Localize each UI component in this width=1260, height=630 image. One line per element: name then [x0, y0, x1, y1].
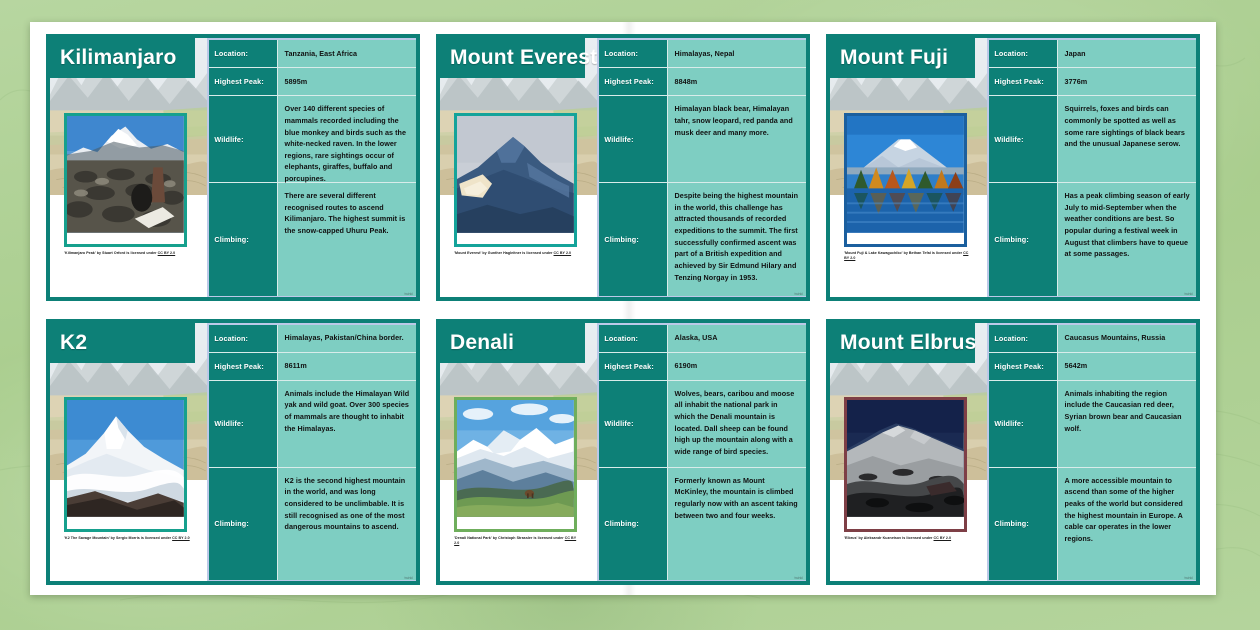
photo-credit-caption: 'Denali National Park' by Christoph Stra…: [454, 536, 580, 546]
table-row-location: Location: Himalayas, Pakistan/China bord…: [209, 325, 416, 353]
value-climbing: There are several different recognised r…: [278, 183, 416, 295]
twinkl-watermark: twinkl: [405, 292, 413, 296]
label-wildlife: Wildlife:: [599, 381, 667, 467]
label-location: Location:: [209, 325, 277, 352]
table-row-location: Location: Alaska, USA: [599, 325, 806, 353]
fact-table: Location: Caucasus Mountains, Russia Hig…: [987, 323, 1196, 582]
label-location: Location:: [209, 40, 277, 67]
card-title-bar: Mount Fuji: [830, 38, 975, 78]
value-highest-peak: 6190m: [668, 353, 806, 380]
fact-card-mount-fuji[interactable]: G Mount Fuji: [826, 34, 1200, 301]
table-row-climbing: Climbing: Despite being the highest moun…: [599, 183, 806, 295]
mountain-photo: [67, 400, 184, 517]
label-climbing: Climbing:: [209, 468, 277, 580]
value-location: Himalayas, Nepal: [668, 40, 806, 67]
card-title-bar: Mount Elbrus: [830, 323, 975, 363]
value-wildlife: Himalayan black bear, Himalayan tahr, sn…: [668, 96, 806, 182]
table-row-wildlife: Wildlife: Wolves, bears, caribou and moo…: [599, 381, 806, 468]
label-wildlife: Wildlife:: [209, 96, 277, 182]
twinkl-watermark: twinkl: [1185, 576, 1193, 580]
mountain-photo-frame[interactable]: [844, 113, 967, 247]
value-climbing: Despite being the highest mountain in th…: [668, 183, 806, 295]
table-row-wildlife: Wildlife: Animals inhabiting the region …: [989, 381, 1196, 468]
value-wildlife: Over 140 different species of mammals re…: [278, 96, 416, 182]
twinkl-watermark: twinkl: [405, 576, 413, 580]
twinkl-watermark: twinkl: [795, 292, 803, 296]
mountain-photo-frame[interactable]: [64, 113, 187, 247]
value-highest-peak: 5895m: [278, 68, 416, 95]
fact-card-k2[interactable]: G K2 'K2 The Savage Mountain' by Sergio …: [46, 319, 420, 586]
label-location: Location:: [599, 325, 667, 352]
table-row-location: Location: Tanzania, East Africa: [209, 40, 416, 68]
label-climbing: Climbing:: [599, 183, 667, 295]
table-row-location: Location: Japan: [989, 40, 1196, 68]
table-row-climbing: Climbing: Has a peak climbing season of …: [989, 183, 1196, 295]
label-location: Location:: [989, 40, 1057, 67]
fact-table: Location: Himalayas, Nepal Highest Peak:…: [597, 38, 806, 297]
table-row-highest-peak: Highest Peak: 6190m: [599, 353, 806, 381]
value-wildlife: Squirrels, foxes and birds can commonly …: [1058, 96, 1196, 182]
photo-credit-caption: 'Mount Fuji & Lake Kawaguchiko' by Betha…: [844, 251, 970, 261]
card-illustration-panel: G Kilimanjaro 'Kilimanjaro Peak' by Stua…: [50, 38, 207, 297]
label-highest-peak: Highest Peak:: [989, 68, 1057, 95]
fact-card-mount-everest[interactable]: G Mount Everest 'Mount Everest' by Gunth…: [436, 34, 810, 301]
table-row-wildlife: Wildlife: Animals include the Himalayan …: [209, 381, 416, 468]
table-row-highest-peak: Highest Peak: 8611m: [209, 353, 416, 381]
screenshot-stage: G Kilimanjaro 'Kilimanjaro Peak' by Stua…: [0, 0, 1260, 630]
value-highest-peak: 5642m: [1058, 353, 1196, 380]
value-climbing: K2 is the second highest mountain in the…: [278, 468, 416, 580]
label-climbing: Climbing:: [989, 468, 1057, 580]
photo-credit-caption: 'Kilimanjaro Peak' by Stuart Orford is l…: [64, 251, 190, 256]
table-row-climbing: Climbing: There are several different re…: [209, 183, 416, 295]
table-row-wildlife: Wildlife: Squirrels, foxes and birds can…: [989, 96, 1196, 183]
fact-card-grid: G Kilimanjaro 'Kilimanjaro Peak' by Stua…: [46, 34, 1200, 585]
fact-card-mount-elbrus[interactable]: G Mount Elbrus 'Elbrus' by Aleksandr Kuz…: [826, 319, 1200, 586]
label-wildlife: Wildlife:: [989, 381, 1057, 467]
card-illustration-panel: G Mount Everest 'Mount Everest' by Gunth…: [440, 38, 597, 297]
table-row-wildlife: Wildlife: Over 140 different species of …: [209, 96, 416, 183]
twinkl-watermark: twinkl: [1185, 292, 1193, 296]
value-highest-peak: 8611m: [278, 353, 416, 380]
worksheet-page: G Kilimanjaro 'Kilimanjaro Peak' by Stua…: [30, 22, 1216, 595]
fact-table: Location: Tanzania, East Africa Highest …: [207, 38, 416, 297]
label-location: Location:: [599, 40, 667, 67]
card-title-bar: Denali: [440, 323, 585, 363]
card-illustration-panel: G Denali 'Denali National Park' by Chris…: [440, 323, 597, 582]
card-title: K2: [60, 332, 187, 353]
table-row-highest-peak: Highest Peak: 5895m: [209, 68, 416, 96]
card-title: Denali: [450, 332, 577, 353]
label-climbing: Climbing:: [989, 183, 1057, 295]
mountain-photo-frame[interactable]: [454, 113, 577, 247]
value-location: Himalayas, Pakistan/China border.: [278, 325, 416, 352]
mountain-photo: [67, 116, 184, 233]
card-illustration-panel: G Mount Elbrus 'Elbrus' by Aleksandr Kuz…: [830, 323, 987, 582]
table-row-location: Location: Caucasus Mountains, Russia: [989, 325, 1196, 353]
table-row-climbing: Climbing: Formerly known as Mount McKinl…: [599, 468, 806, 580]
card-title-bar: K2: [50, 323, 195, 363]
label-wildlife: Wildlife:: [599, 96, 667, 182]
label-highest-peak: Highest Peak:: [599, 353, 667, 380]
label-highest-peak: Highest Peak:: [209, 68, 277, 95]
photo-credit-caption: 'Elbrus' by Aleksandr Kuznetsov is licen…: [844, 536, 970, 541]
table-row-highest-peak: Highest Peak: 8848m: [599, 68, 806, 96]
photo-credit-caption: 'Mount Everest' by Gunther Hagleitner is…: [454, 251, 580, 256]
label-location: Location:: [989, 325, 1057, 352]
table-row-location: Location: Himalayas, Nepal: [599, 40, 806, 68]
photo-credit-caption: 'K2 The Savage Mountain' by Sergio Morri…: [64, 536, 190, 541]
label-wildlife: Wildlife:: [989, 96, 1057, 182]
card-title-bar: Kilimanjaro: [50, 38, 195, 78]
value-wildlife: Wolves, bears, caribou and moose all inh…: [668, 381, 806, 467]
mountain-photo: [457, 400, 574, 517]
value-location: Alaska, USA: [668, 325, 806, 352]
mountain-photo: [847, 400, 964, 517]
fact-card-kilimanjaro[interactable]: G Kilimanjaro 'Kilimanjaro Peak' by Stua…: [46, 34, 420, 301]
card-title: Mount Everest: [450, 47, 577, 68]
label-highest-peak: Highest Peak:: [209, 353, 277, 380]
label-highest-peak: Highest Peak:: [989, 353, 1057, 380]
label-climbing: Climbing:: [599, 468, 667, 580]
fact-table: Location: Japan Highest Peak: 3776m Wild…: [987, 38, 1196, 297]
fact-table: Location: Alaska, USA Highest Peak: 6190…: [597, 323, 806, 582]
card-illustration-panel: G K2 'K2 The Savage Mountain' by Sergio …: [50, 323, 207, 582]
value-highest-peak: 8848m: [668, 68, 806, 95]
mountain-photo-frame[interactable]: [844, 397, 967, 531]
value-climbing: Has a peak climbing season of early July…: [1058, 183, 1196, 295]
fact-card-denali[interactable]: G Denali 'Denali National Park' by Chris…: [436, 319, 810, 586]
value-climbing: A more accessible mountain to ascend tha…: [1058, 468, 1196, 580]
value-location: Tanzania, East Africa: [278, 40, 416, 67]
card-title: Kilimanjaro: [60, 47, 187, 68]
table-row-climbing: Climbing: A more accessible mountain to …: [989, 468, 1196, 580]
mountain-photo: [457, 116, 574, 233]
table-row-highest-peak: Highest Peak: 5642m: [989, 353, 1196, 381]
value-wildlife: Animals inhabiting the region include th…: [1058, 381, 1196, 467]
card-title: Mount Elbrus: [840, 332, 967, 353]
value-location: Caucasus Mountains, Russia: [1058, 325, 1196, 352]
fact-table: Location: Himalayas, Pakistan/China bord…: [207, 323, 416, 582]
card-title: Mount Fuji: [840, 47, 967, 68]
mountain-photo-frame[interactable]: [454, 397, 577, 531]
value-climbing: Formerly known as Mount McKinley, the mo…: [668, 468, 806, 580]
value-wildlife: Animals include the Himalayan Wild yak a…: [278, 381, 416, 467]
table-row-highest-peak: Highest Peak: 3776m: [989, 68, 1196, 96]
label-wildlife: Wildlife:: [209, 381, 277, 467]
card-title-bar: Mount Everest: [440, 38, 585, 78]
label-climbing: Climbing:: [209, 183, 277, 295]
label-highest-peak: Highest Peak:: [599, 68, 667, 95]
table-row-climbing: Climbing: K2 is the second highest mount…: [209, 468, 416, 580]
mountain-photo-frame[interactable]: [64, 397, 187, 531]
table-row-wildlife: Wildlife: Himalayan black bear, Himalaya…: [599, 96, 806, 183]
twinkl-watermark: twinkl: [795, 576, 803, 580]
card-illustration-panel: G Mount Fuji: [830, 38, 987, 297]
value-highest-peak: 3776m: [1058, 68, 1196, 95]
mountain-photo: [847, 116, 964, 233]
value-location: Japan: [1058, 40, 1196, 67]
